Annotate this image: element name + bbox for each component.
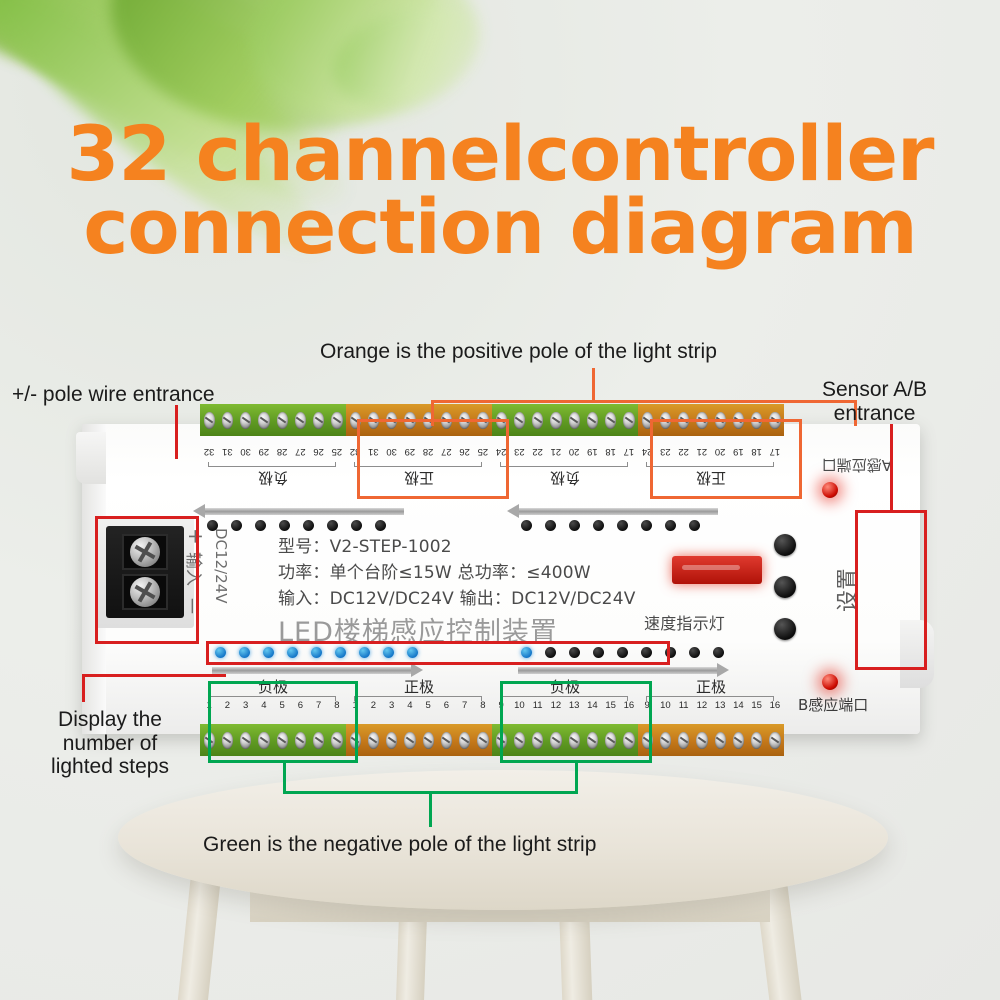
speed-indicator-label: 速度指示灯: [644, 610, 725, 634]
leader-line-orange-stem: [592, 368, 595, 402]
page-title: 32 channelcontroller connection diagram: [0, 118, 1000, 264]
terminal-number-10: 10: [656, 700, 674, 711]
terminal-number-25: 25: [328, 446, 346, 457]
terminal-screw-14[interactable]: [733, 732, 744, 749]
spec-io: 输入：DC12V/DC24V 输出：DC12V/DC24V: [278, 584, 636, 609]
sensor-b-led: [822, 674, 838, 690]
indicator-dot-dark: [617, 520, 628, 531]
display-arrow-right: [518, 667, 718, 674]
sensor-a-label: A感应端口: [822, 455, 892, 476]
terminal-number-29: 29: [255, 446, 273, 457]
terminal-screw-31[interactable]: [313, 412, 324, 429]
terminal-screw-7[interactable]: [459, 732, 470, 749]
scale-bracket: [500, 462, 628, 467]
terminal-number-17: 17: [620, 446, 638, 457]
terminal-screw-2[interactable]: [368, 732, 379, 749]
terminal-number-scale: 1718192021222324: [492, 446, 638, 457]
indicator-dot-dark: [593, 520, 604, 531]
terminal-number-28: 28: [273, 446, 291, 457]
spec-model: 型号：V2-STEP-1002: [278, 532, 452, 557]
title-line-1: 32 channelcontroller: [0, 118, 1000, 191]
pole-label-top-1: 负极: [200, 468, 346, 489]
terminal-number-22: 22: [529, 446, 547, 457]
terminal-number-scale: 910111213141516: [638, 700, 784, 711]
direction-arrow-left-2: [518, 508, 718, 515]
terminal-number-21: 21: [547, 446, 565, 457]
terminal-number-30: 30: [237, 446, 255, 457]
terminal-block-green-1[interactable]: [200, 404, 346, 436]
indicator-dot-dark: [255, 520, 266, 531]
highlight-step-display-row: [206, 641, 670, 665]
terminal-screw-5[interactable]: [423, 732, 434, 749]
highlight-green-terminal-group-2: [500, 681, 652, 763]
annotation-bottom-center: Green is the negative pole of the light …: [203, 833, 596, 857]
setting-button-2[interactable]: [774, 576, 796, 598]
pole-label-top-3: 负极: [492, 468, 638, 489]
terminal-screw-4[interactable]: [404, 732, 415, 749]
terminal-screw-10[interactable]: [660, 732, 671, 749]
highlight-green-terminal-group-1: [208, 681, 358, 763]
terminal-number-20: 20: [565, 446, 583, 457]
indicator-dot-dark: [569, 520, 580, 531]
terminal-block-orange-2[interactable]: [346, 724, 492, 756]
terminal-screw-23[interactable]: [605, 412, 616, 429]
highlight-orange-terminal-group-2: [650, 419, 802, 499]
indicator-dot-dark: [665, 520, 676, 531]
indicator-dot-dark: [521, 520, 532, 531]
terminal-number-14: 14: [729, 700, 747, 711]
terminal-screw-25[interactable]: [204, 412, 215, 429]
setting-button-1[interactable]: [774, 534, 796, 556]
upper-dot-row-right: [514, 520, 706, 531]
terminal-number-6: 6: [437, 700, 455, 711]
indicator-dot-dark: [641, 520, 652, 531]
speed-indicator-bar: [672, 556, 762, 584]
terminal-number-26: 26: [310, 446, 328, 457]
leader-line-red-display-down: [82, 674, 85, 702]
leader-line-green-stem: [429, 791, 432, 827]
terminal-screw-28[interactable]: [258, 412, 269, 429]
terminal-screw-21[interactable]: [569, 412, 580, 429]
annotation-top-center: Orange is the positive pole of the light…: [320, 340, 717, 364]
indicator-dot-dark: [231, 520, 242, 531]
terminal-number-7: 7: [456, 700, 474, 711]
terminal-number-27: 27: [291, 446, 309, 457]
terminal-number-16: 16: [766, 700, 784, 711]
terminal-screw-3[interactable]: [386, 732, 397, 749]
terminal-number-11: 11: [675, 700, 693, 711]
annotation-top-left: +/- pole wire entrance: [12, 383, 215, 407]
terminal-number-12: 12: [693, 700, 711, 711]
spec-power: 功率：单个台阶≤15W 总功率：≤400W: [278, 558, 591, 583]
leader-line-green-right: [575, 763, 578, 793]
terminal-screw-27[interactable]: [240, 412, 251, 429]
terminal-screw-19[interactable]: [532, 412, 543, 429]
indicator-dot-dark: [689, 520, 700, 531]
sensor-a-led: [822, 482, 838, 498]
terminal-number-2: 2: [364, 700, 382, 711]
indicator-dot-dark: [327, 520, 338, 531]
leader-line-red-display: [82, 674, 226, 677]
indicator-dot-dark: [351, 520, 362, 531]
highlight-power-terminal: [95, 516, 199, 644]
terminal-number-19: 19: [583, 446, 601, 457]
terminal-screw-12[interactable]: [696, 732, 707, 749]
indicator-dot-dark: [303, 520, 314, 531]
pole-label-bottom-2: 正极: [346, 676, 492, 697]
terminal-block-green-3[interactable]: [492, 404, 638, 436]
terminal-number-8: 8: [474, 700, 492, 711]
terminal-screw-13[interactable]: [715, 732, 726, 749]
terminal-screw-24[interactable]: [623, 412, 634, 429]
pole-label-bottom-4: 正极: [638, 676, 784, 697]
terminal-screw-15[interactable]: [751, 732, 762, 749]
display-arrow-left: [212, 667, 412, 674]
terminal-screw-18[interactable]: [514, 412, 525, 429]
leader-line-green-left: [283, 763, 286, 793]
scale-bracket: [208, 462, 336, 467]
setting-button-3[interactable]: [774, 618, 796, 640]
terminal-number-15: 15: [748, 700, 766, 711]
direction-arrow-left: [204, 508, 404, 515]
indicator-dot-dark: [279, 520, 290, 531]
terminal-screw-29[interactable]: [277, 412, 288, 429]
terminal-screw-11[interactable]: [678, 732, 689, 749]
annotation-bottom-left: Display the number of lighted steps: [30, 708, 190, 779]
terminal-number-13: 13: [711, 700, 729, 711]
power-input-voltage: DC12/24V: [212, 528, 230, 604]
terminal-number-3: 3: [383, 700, 401, 711]
indicator-dot-dark: [713, 647, 724, 658]
indicator-dot-dark: [545, 520, 556, 531]
indicator-dot-dark: [375, 520, 386, 531]
mounting-ear-left: [76, 432, 106, 484]
terminal-screw-16[interactable]: [769, 732, 780, 749]
terminal-screw-26[interactable]: [222, 412, 233, 429]
leader-line-red-top-left: [175, 405, 178, 459]
terminal-screw-8[interactable]: [477, 732, 488, 749]
terminal-number-32: 32: [200, 446, 218, 457]
title-line-2: connection diagram: [0, 191, 1000, 264]
highlight-sensor-side: [855, 510, 927, 670]
leader-line-red-sensor: [890, 424, 893, 510]
highlight-orange-terminal-group-1: [357, 419, 509, 499]
terminal-number-23: 23: [510, 446, 528, 457]
terminal-number-scale: 2526272829303132: [200, 446, 346, 457]
terminal-number-5: 5: [419, 700, 437, 711]
terminal-number-31: 31: [218, 446, 236, 457]
terminal-number-18: 18: [602, 446, 620, 457]
indicator-dot-dark: [689, 647, 700, 658]
terminal-screw-6[interactable]: [441, 732, 452, 749]
terminal-block-orange-4[interactable]: [638, 724, 784, 756]
terminal-screw-32[interactable]: [331, 412, 342, 429]
sensor-b-label: B感应端口: [798, 694, 868, 715]
terminal-screw-20[interactable]: [550, 412, 561, 429]
terminal-number-4: 4: [401, 700, 419, 711]
terminal-screw-22[interactable]: [587, 412, 598, 429]
leader-line-orange-span: [431, 400, 857, 403]
annotation-top-right: Sensor A/B entrance: [822, 378, 927, 425]
terminal-screw-30[interactable]: [295, 412, 306, 429]
terminal-number-scale: 12345678: [346, 700, 492, 711]
